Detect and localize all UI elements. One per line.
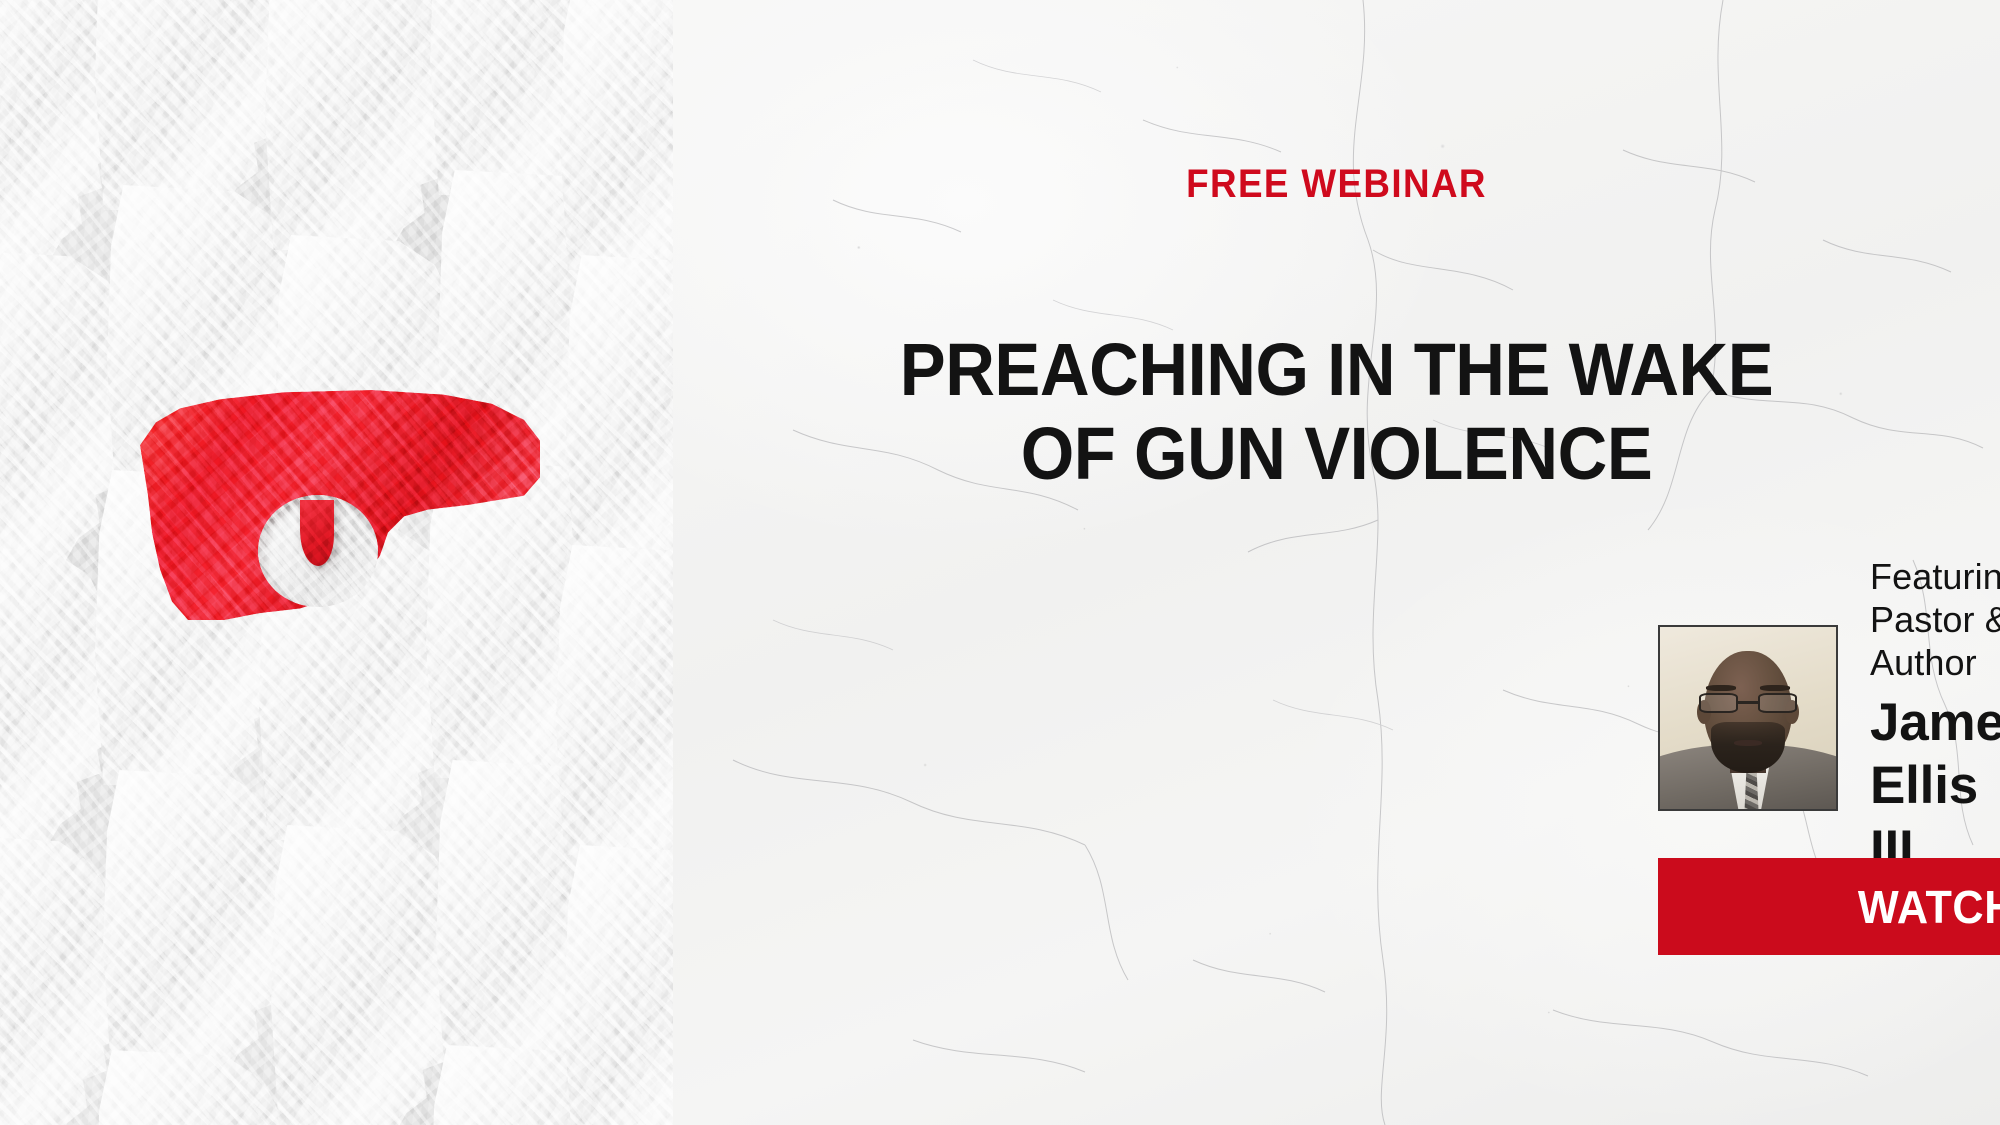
speaker-block: Featuring Pastor & Author James Ellis II…: [1658, 555, 2000, 881]
page-title: PREACHING IN THE WAKE OF GUN VIOLENCE: [719, 328, 1953, 497]
paper-texture-overlay: [0, 0, 673, 1125]
speaker-details: Featuring Pastor & Author James Ellis II…: [1870, 555, 2000, 881]
content-panel: FREE WEBINAR PREACHING IN THE WAKE OF GU…: [673, 0, 2000, 1125]
eyebrow-label: FREE WEBINAR: [726, 162, 1947, 207]
artwork-panel: [0, 0, 673, 1125]
watch-now-button[interactable]: WATCH NOW: [1658, 858, 2000, 955]
speaker-name-label: James Ellis III: [1870, 691, 2000, 882]
portrait-glasses-icon: [1699, 693, 1798, 713]
portrait-brow-right: [1760, 685, 1790, 690]
headline-line-2: OF GUN VIOLENCE: [719, 412, 1953, 496]
speaker-portrait-photo: [1658, 625, 1838, 811]
headline-line-1: PREACHING IN THE WAKE: [719, 328, 1953, 412]
speaker-role-label: Featuring Pastor & Author: [1870, 555, 2000, 685]
portrait-mouth: [1734, 740, 1762, 746]
watch-now-button-label: WATCH NOW: [1858, 880, 2000, 934]
portrait-brow-left: [1706, 685, 1736, 690]
webinar-promo-banner: FREE WEBINAR PREACHING IN THE WAKE OF GU…: [0, 0, 2000, 1125]
